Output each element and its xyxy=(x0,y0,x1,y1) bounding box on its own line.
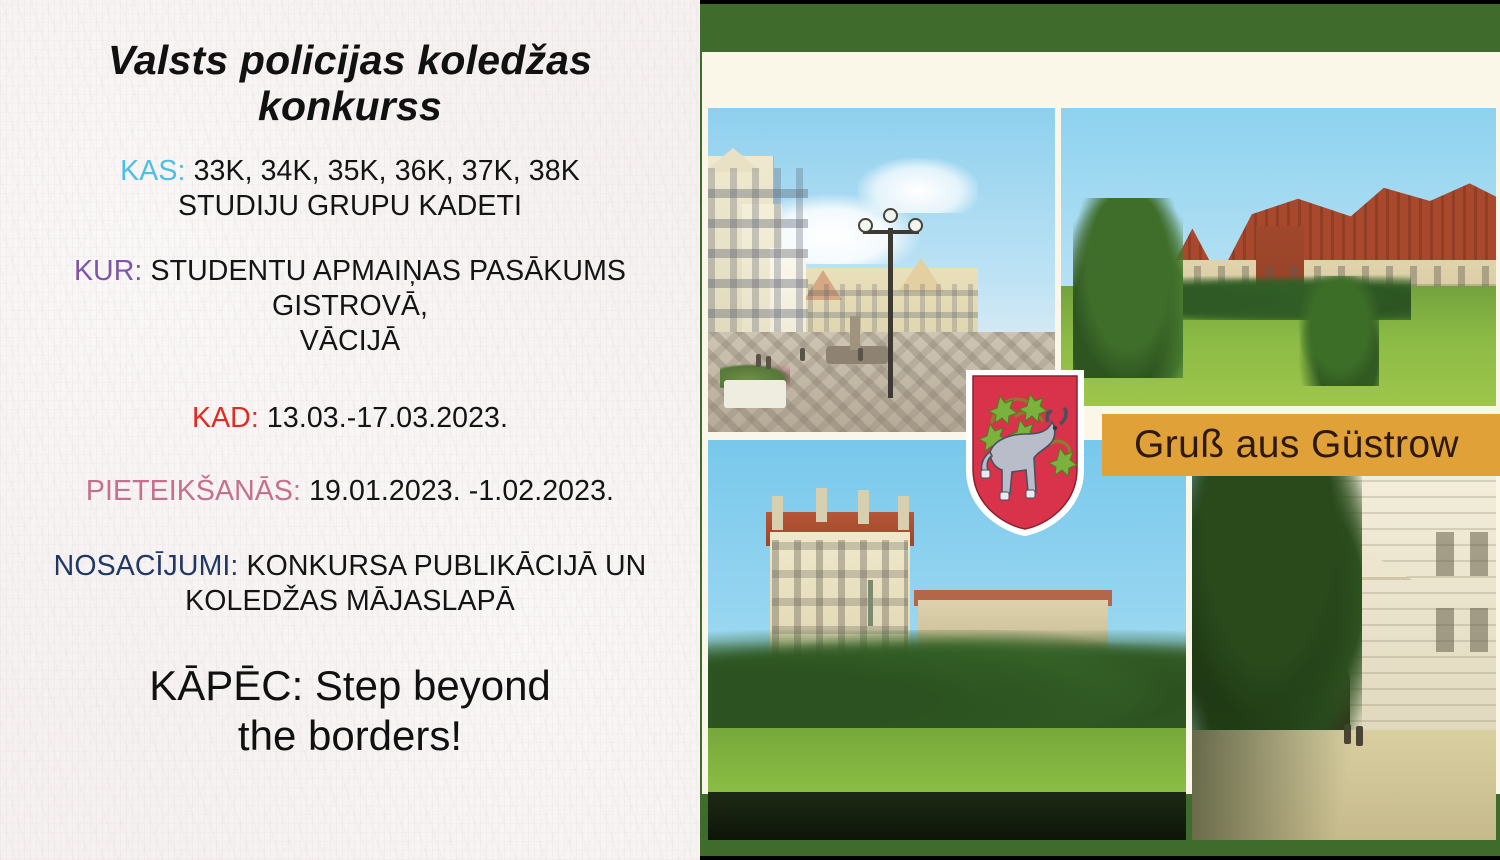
info-block-kad: KAD: 13.03.-17.03.2023. xyxy=(14,401,686,436)
pedestrian xyxy=(766,356,771,369)
lawn xyxy=(708,728,1186,798)
kapec-label: KĀPĒC: xyxy=(149,662,303,709)
campus-buildings-photo xyxy=(1061,108,1496,406)
window xyxy=(1470,608,1488,652)
info-block-kapec: KĀPĒC: Step beyond the borders! xyxy=(14,661,686,760)
church-spire xyxy=(868,580,873,626)
postcard-panel: Gruß aus Güstrow xyxy=(700,0,1500,860)
kas-label: KAS: xyxy=(120,155,185,187)
kur-line-1: KUR: STUDENTU APMAIŅAS PASĀKUMS xyxy=(14,254,686,289)
window xyxy=(1470,532,1488,576)
nosacijumi-value-2: KOLEDŽAS MĀJASLAPĀ xyxy=(14,584,686,619)
lamp-post xyxy=(888,228,893,398)
nosacijumi-line-1: NOSACĪJUMI: KONKURSA PUBLIKĀCIJĀ UN xyxy=(14,549,686,584)
kur-value-2: GISTROVĀ, xyxy=(14,289,686,324)
pedestrian xyxy=(756,354,761,367)
water xyxy=(708,792,1186,840)
nosacijumi-value-1: KONKURSA PUBLIKĀCIJĀ UN xyxy=(246,550,646,582)
tree-shadow xyxy=(1192,730,1382,840)
planter xyxy=(724,380,786,408)
guestrow-coat-of-arms-icon xyxy=(964,370,1086,538)
turret xyxy=(858,490,869,524)
window xyxy=(1436,532,1454,576)
kas-line-1: KAS: 33K, 34K, 35K, 36K, 37K, 38K xyxy=(14,154,686,189)
poster-root: Valsts policijas koledžas konkurss KAS: … xyxy=(0,0,1500,860)
tree xyxy=(1192,440,1362,730)
pieteiksanas-value-1: 19.01.2023. -1.02.2023. xyxy=(309,475,614,507)
turret xyxy=(816,488,827,522)
text-panel: Valsts policijas koledžas konkurss KAS: … xyxy=(0,0,700,860)
greeting-text: Gruß aus Güstrow xyxy=(1102,423,1459,467)
statue xyxy=(850,316,860,350)
window xyxy=(1436,608,1454,652)
info-block-nosacijumi: NOSACĪJUMI: KONKURSA PUBLIKĀCIJĀ UN KOLE… xyxy=(14,549,686,619)
text-content: Valsts policijas koledžas konkurss KAS: … xyxy=(0,0,700,760)
pedestrian xyxy=(800,348,805,361)
kapec-line-1: KĀPĒC: Step beyond xyxy=(14,661,686,711)
kur-label: KUR: xyxy=(74,255,143,287)
pieteiksanas-line-1: PIETEIKŠANĀS: 19.01.2023. -1.02.2023. xyxy=(14,474,686,509)
info-block-kas: KAS: 33K, 34K, 35K, 36K, 37K, 38K STUDIJ… xyxy=(14,154,686,224)
lamp-globe xyxy=(858,218,873,233)
page-title: Valsts policijas koledžas konkurss xyxy=(40,38,660,130)
tree xyxy=(1299,276,1379,386)
nosacijumi-label: NOSACĪJUMI: xyxy=(54,550,239,582)
cloud xyxy=(858,158,978,213)
kas-value-1: 33K, 34K, 35K, 36K, 37K, 38K xyxy=(194,155,580,187)
postcard-mat: Gruß aus Güstrow xyxy=(702,52,1500,794)
kad-line-1: KAD: 13.03.-17.03.2023. xyxy=(14,401,686,436)
kapec-value-2: the borders! xyxy=(14,711,686,761)
schloss-photo xyxy=(708,440,1186,840)
title-line-1: Valsts policijas koledžas xyxy=(40,38,660,84)
kur-value-1: STUDENTU APMAIŅAS PASĀKUMS xyxy=(150,255,626,287)
info-block-pieteiksanas: PIETEIKŠANĀS: 19.01.2023. -1.02.2023. xyxy=(14,474,686,509)
lamp-globe xyxy=(908,218,923,233)
title-line-2: konkurss xyxy=(40,84,660,130)
cathedral-portal-photo xyxy=(1192,440,1496,840)
tree xyxy=(1073,198,1183,378)
pedestrian xyxy=(858,348,863,361)
kad-value-1: 13.03.-17.03.2023. xyxy=(267,402,508,434)
kad-label: KAD: xyxy=(192,402,259,434)
lamp-globe xyxy=(883,208,898,223)
kas-value-2: STUDIJU GRUPU KADETI xyxy=(14,189,686,224)
greeting-banner: Gruß aus Güstrow xyxy=(1102,414,1500,476)
turret xyxy=(898,496,909,530)
info-block-kur: KUR: STUDENTU APMAIŅAS PASĀKUMS GISTROVĀ… xyxy=(14,254,686,359)
turret xyxy=(772,496,783,530)
kur-value-3: VĀCIJĀ xyxy=(14,324,686,359)
kapec-value-1: Step beyond xyxy=(315,662,551,709)
pieteiksanas-label: PIETEIKŠANĀS: xyxy=(86,475,301,507)
